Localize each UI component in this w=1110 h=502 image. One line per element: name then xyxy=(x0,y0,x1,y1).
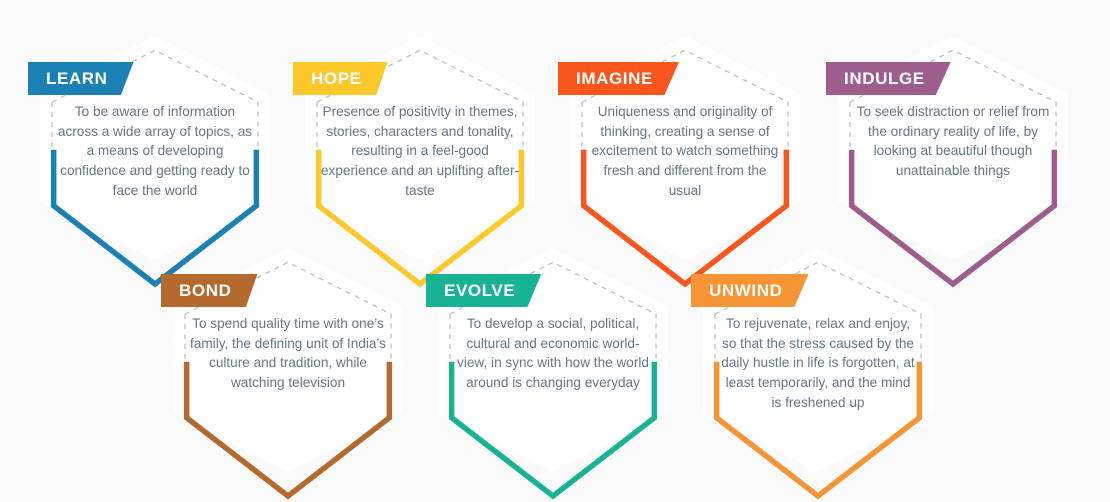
card-title: IMAGINE xyxy=(576,70,653,87)
hexagon-card[interactable]: UNWINDTo rejuvenate, relax and enjoy, so… xyxy=(703,248,933,498)
hexagon-card[interactable]: EVOLVETo develop a social, political, cu… xyxy=(438,248,668,498)
hexagon-card[interactable]: BONDTo spend quality time with one’s fam… xyxy=(173,248,403,498)
card-ribbon[interactable]: LEARN xyxy=(28,62,134,95)
card-title: EVOLVE xyxy=(444,282,515,299)
card-ribbon[interactable]: INDULGE xyxy=(826,62,951,95)
card-title: BOND xyxy=(179,282,231,299)
card-description: To rejuvenate, relax and enjoy, so that … xyxy=(719,314,917,413)
card-title: LEARN xyxy=(46,70,108,87)
card-ribbon[interactable]: IMAGINE xyxy=(558,62,679,95)
infographic-canvas: LEARNTo be aware of information across a… xyxy=(0,0,1110,502)
card-ribbon[interactable]: BOND xyxy=(161,274,257,307)
card-description: To spend quality time with one’s family,… xyxy=(189,314,387,393)
card-ribbon[interactable]: EVOLVE xyxy=(426,274,541,307)
card-description: Presence of positivity in themes, storie… xyxy=(321,102,519,201)
card-title: INDULGE xyxy=(844,70,925,87)
card-description: To develop a social, political, cultural… xyxy=(454,314,652,393)
card-ribbon[interactable]: UNWIND xyxy=(691,274,808,307)
card-description: Uniqueness and originality of thinking, … xyxy=(586,102,784,201)
card-ribbon[interactable]: HOPE xyxy=(293,62,388,95)
card-title: UNWIND xyxy=(709,282,782,299)
card-description: To seek distraction or relief from the o… xyxy=(854,102,1052,181)
card-description: To be aware of information across a wide… xyxy=(56,102,254,201)
card-title: HOPE xyxy=(311,70,362,87)
